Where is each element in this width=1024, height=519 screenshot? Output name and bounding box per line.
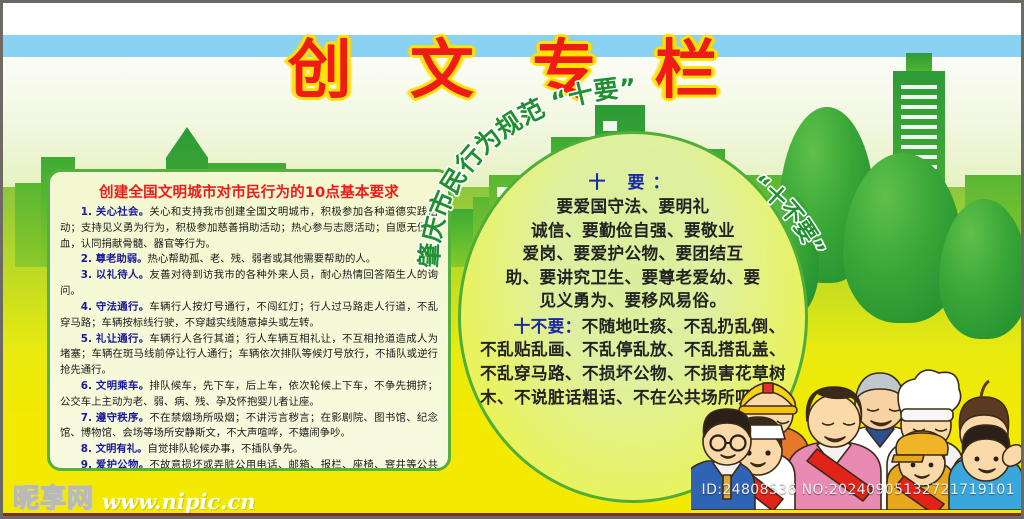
- image-id-text: ID:24808536 NO:20240905132721719101: [702, 482, 1015, 498]
- left-panel-body: 1. 关心社会。关心和支持我市创建全国文明城市，积极参加各种道德实践活动；支持见…: [60, 205, 438, 471]
- window: [901, 115, 937, 119]
- requirement-number: 8.: [81, 443, 96, 455]
- requirement-keyword: 遵守秩序。: [96, 412, 150, 424]
- requirement-item: 5. 礼让通行。车辆行人各行其道；行人车辆互相礼让，不互相抢道造成人为堵塞；车辆…: [60, 332, 438, 379]
- requirement-number: 1.: [81, 206, 96, 218]
- requirement-keyword: 文明有礼。: [96, 443, 148, 455]
- arc-headline-group: 肇庆市民行为规范 “十要” “十不要”: [433, 115, 853, 315]
- requirement-keyword: 关心社会。: [96, 206, 150, 218]
- requirement-keyword: 文明乘车。: [96, 380, 150, 392]
- left-panel-title: 创建全国文明城市对市民行为的10点基本要求: [60, 181, 438, 202]
- requirement-item: 3. 以礼待人。友善对待到访我市的各种外来人员，耐心热情回答陌生人的询问。: [60, 268, 438, 300]
- figure-delivery-worker: [887, 431, 955, 510]
- requirement-number: 6.: [81, 380, 96, 392]
- requirement-number: 5.: [81, 333, 96, 345]
- requirement-keyword: 以礼待人。: [96, 269, 150, 281]
- requirement-keyword: 礼让通行。: [96, 333, 150, 345]
- requirement-item: 7. 遵守秩序。不在禁烟场所吸烟；不讲污言秽言；在影剧院、图书馆、纪念馆、博物馆…: [60, 411, 438, 443]
- requirement-item: 1. 关心社会。关心和支持我市创建全国文明城市，积极参加各种道德实践活动；支持见…: [60, 205, 438, 252]
- requirement-text: 自觉排队轮候办事，不插队争先。: [148, 443, 304, 455]
- left-requirements-panel: 创建全国文明城市对市民行为的10点基本要求 1. 关心社会。关心和支持我市创建全…: [47, 169, 451, 471]
- requirement-number: 3.: [81, 269, 96, 281]
- requirement-keyword: 尊老助弱。: [96, 253, 148, 265]
- page-title: 创 文 专 栏: [3, 19, 1021, 111]
- watermark-url: www.nipic.cn: [102, 491, 256, 512]
- window: [901, 135, 937, 139]
- window: [901, 145, 937, 149]
- requirement-keyword: 爱护公物。: [96, 459, 150, 471]
- requirement-number: 7.: [81, 412, 96, 424]
- requirement-number: 4.: [81, 301, 96, 313]
- watermark-logo: 昵享网: [13, 486, 94, 512]
- requirement-item: 4. 守法通行。车辆行人按灯号通行，不闯红灯；行人过马路走人行道，不乱穿马路；车…: [60, 300, 438, 332]
- requirement-item: 2. 尊老助弱。热心帮助孤、老、残、弱者或其他需要帮助的人。: [60, 252, 438, 268]
- poster-canvas: 创 文 专 栏 创建全国文明城市对市民行为的10点基本要求 1. 关心社会。关心…: [0, 0, 1024, 519]
- window: [901, 125, 937, 129]
- requirement-item: 6. 文明乘车。排队候车，先下车，后上车，依次轮候上下车，不争先拥挤；公交车上主…: [60, 379, 438, 411]
- requirement-item: 9. 爱护公物。不故意损坏或弄脏公用电话、邮箱、报栏、座椅、窨井等公共设施。: [60, 458, 438, 471]
- arc-quote-right-text: “十不要”: [747, 170, 828, 260]
- people-group-illustration: [691, 305, 1021, 510]
- building: [15, 183, 41, 267]
- requirement-text: 热心帮助孤、老、残、弱者或其他需要帮助的人。: [148, 253, 377, 265]
- requirement-keyword: 守法通行。: [96, 301, 150, 313]
- bottom-divider: [3, 513, 1021, 516]
- requirement-item: 8. 文明有礼。自觉排队轮候办事，不插队争先。: [60, 442, 438, 458]
- requirement-number: 2.: [81, 253, 96, 265]
- watermark: 昵享网 www.nipic.cn: [13, 486, 256, 512]
- ten-buyao-label: 十不要：: [514, 317, 582, 336]
- requirement-number: 9.: [81, 459, 96, 471]
